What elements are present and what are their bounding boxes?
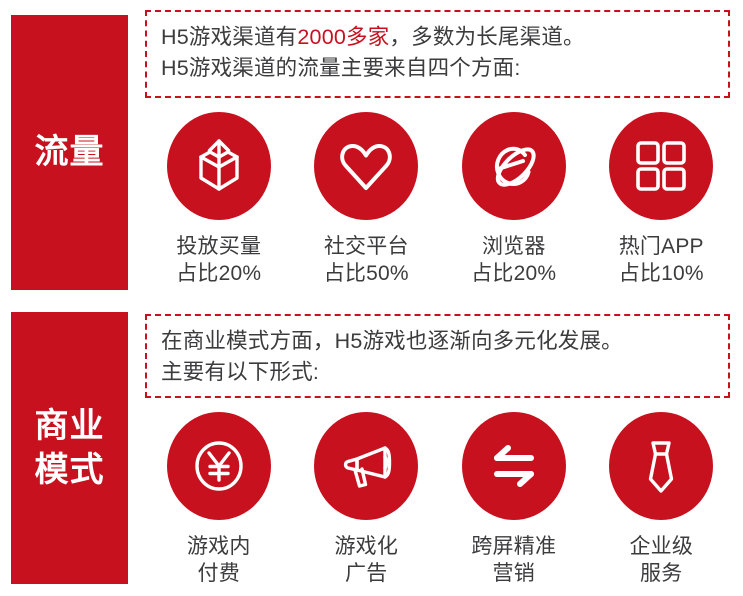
- business-item-2-caption: 跨屏精准 营销: [471, 533, 556, 587]
- browser-e-icon: [483, 135, 545, 197]
- business-item-1-caption: 游戏化 广告: [334, 533, 398, 587]
- traffic-callout-line1-suffix: ，多数为长尾渠道。: [389, 25, 584, 49]
- business-callout-box: 在商业模式方面，H5游戏也逐渐向多元化发展。 主要有以下形式:: [145, 314, 730, 398]
- box-upload-icon: [188, 135, 250, 197]
- necktie-icon: [630, 435, 692, 497]
- section-business-model: 商业 模式 在商业模式方面，H5游戏也逐渐向多元化发展。 主要有以下形式:: [0, 300, 743, 596]
- megaphone-icon: [335, 435, 397, 497]
- traffic-icon-row: 投放买量 占比20% 社交平台 占比50%: [145, 112, 735, 287]
- traffic-item-1[interactable]: 社交平台 占比50%: [296, 112, 436, 287]
- traffic-item-0[interactable]: 投放买量 占比20%: [149, 112, 289, 287]
- business-item-1-badge: [314, 412, 418, 520]
- traffic-item-2-badge: [462, 112, 566, 220]
- business-item-0-badge: [167, 412, 271, 520]
- traffic-callout-line-1: H5游戏渠道有2000多家，多数为长尾渠道。: [161, 22, 716, 53]
- traffic-item-0-badge: [167, 112, 271, 220]
- traffic-callout-line1-highlight: 2000多家: [297, 25, 389, 49]
- business-item-3-badge: [609, 412, 713, 520]
- business-item-3-caption: 企业级 服务: [629, 533, 693, 587]
- traffic-item-3[interactable]: 热门APP 占比10%: [591, 112, 731, 287]
- business-callout-line-1: 在商业模式方面，H5游戏也逐渐向多元化发展。: [161, 326, 716, 357]
- traffic-item-3-badge: [609, 112, 713, 220]
- section-business-side-label: 商业 模式: [11, 312, 128, 584]
- traffic-callout-line1-prefix: H5游戏渠道有: [161, 25, 297, 49]
- business-item-0[interactable]: 游戏内 付费: [149, 412, 289, 587]
- traffic-callout-line-2: H5游戏渠道的流量主要来自四个方面:: [161, 53, 716, 84]
- section-traffic-side-label: 流量: [11, 15, 128, 290]
- yuan-coin-icon: [188, 435, 250, 497]
- business-item-0-caption: 游戏内 付费: [187, 533, 251, 587]
- business-item-3[interactable]: 企业级 服务: [591, 412, 731, 587]
- traffic-item-3-caption: 热门APP 占比10%: [619, 233, 704, 287]
- traffic-callout-box: H5游戏渠道有2000多家，多数为长尾渠道。 H5游戏渠道的流量主要来自四个方面…: [145, 10, 730, 98]
- h5-game-infographic: 流量 H5游戏渠道有2000多家，多数为长尾渠道。 H5游戏渠道的流量主要来自四…: [0, 0, 743, 596]
- heart-icon: [335, 135, 397, 197]
- business-callout-line-2: 主要有以下形式:: [161, 357, 716, 388]
- traffic-item-2-caption: 浏览器 占比20%: [471, 233, 556, 287]
- exchange-arrows-icon: [483, 435, 545, 497]
- section-traffic: 流量 H5游戏渠道有2000多家，多数为长尾渠道。 H5游戏渠道的流量主要来自四…: [0, 0, 743, 300]
- traffic-item-0-caption: 投放买量 占比20%: [176, 233, 261, 287]
- business-icon-row: 游戏内 付费 游戏化 广告: [145, 412, 735, 587]
- business-item-2[interactable]: 跨屏精准 营销: [444, 412, 584, 587]
- business-item-1[interactable]: 游戏化 广告: [296, 412, 436, 587]
- traffic-item-1-badge: [314, 112, 418, 220]
- traffic-item-1-caption: 社交平台 占比50%: [324, 233, 409, 287]
- traffic-item-2[interactable]: 浏览器 占比20%: [444, 112, 584, 287]
- section-traffic-side-label-text: 流量: [35, 130, 105, 174]
- section-business-side-label-text: 商业 模式: [35, 404, 105, 492]
- business-item-2-badge: [462, 412, 566, 520]
- app-grid-icon: [632, 137, 690, 195]
